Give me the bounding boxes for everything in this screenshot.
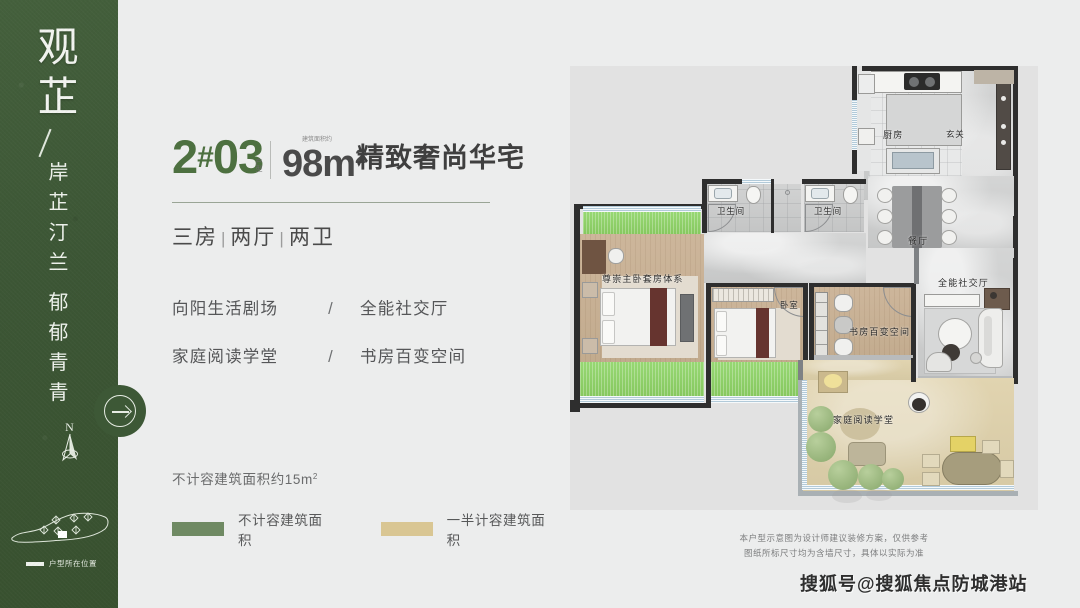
bookshelf-line-3 — [816, 330, 827, 331]
unit-hash: # — [197, 141, 213, 174]
entry-label: 玄关 — [946, 128, 965, 140]
terrace-tree-5 — [882, 468, 904, 490]
nightstand-right — [582, 338, 598, 354]
feature-row: 家庭阅读学堂 / 书房百变空间 — [172, 343, 532, 367]
bath2-label: 卫生间 — [814, 205, 842, 217]
master-window-south — [580, 396, 704, 403]
terrace-tree-2 — [806, 432, 836, 462]
vanity-desk — [582, 240, 606, 274]
room-count-bedrooms: 三房 — [172, 226, 218, 249]
next-arrow-icon[interactable] — [104, 395, 136, 427]
headline-tagline: 精致奢尚华宅 — [357, 140, 525, 176]
tree-shadow-2 — [866, 489, 892, 501]
dining-chair-2 — [877, 209, 893, 224]
feature-left-2: 家庭阅读学堂 — [172, 343, 302, 367]
dining-chair-4 — [941, 188, 957, 203]
brand-title-char-2: 芷 — [0, 72, 118, 122]
plan-disclaimer: 本户型示意图为设计师建议装修方案，仅供参考 图纸所标尺寸均为含墙尺寸，具体以实际… — [704, 531, 964, 561]
dining-chair-1 — [877, 188, 893, 203]
master-wall-bottom — [574, 403, 710, 408]
feature-right-1: 全能社交厅 — [360, 295, 449, 319]
social-wall-right — [1013, 258, 1018, 384]
bath1-basin — [714, 188, 732, 199]
brand-subtitle-char-5: 郁 — [0, 288, 118, 318]
dining-label: 餐厅 — [908, 234, 928, 247]
reading-room-label: 家庭阅读学堂 — [833, 413, 894, 426]
console-table — [924, 294, 980, 307]
bookshelf-line-4 — [816, 344, 827, 345]
burner-1 — [909, 77, 919, 87]
bookshelf-line-2 — [816, 316, 827, 317]
site-map-legend: 户型所在位置 — [26, 558, 118, 569]
watermark: 搜狐号@搜狐焦点防城港站 — [800, 570, 1080, 596]
room-count-bathrooms: 两卫 — [289, 226, 335, 249]
site-map-legend-swatch — [26, 562, 44, 566]
study-armchair-3 — [834, 338, 853, 356]
site-map-legend-label: 户型所在位置 — [49, 558, 97, 569]
nightstand-left — [582, 282, 598, 298]
area-number: 98m — [282, 143, 355, 185]
bedroom2-window — [711, 396, 803, 403]
headline-rule — [172, 202, 490, 203]
feature-left-1: 向阳生活剧场 — [172, 295, 302, 319]
brand-subtitle-char-6: 郁 — [0, 318, 118, 348]
terrace-tree-3 — [828, 460, 858, 490]
accent-chair — [926, 352, 952, 372]
study-wall-right — [911, 283, 916, 363]
bedroom2-label: 卧室 — [780, 299, 799, 311]
planter-plant — [824, 374, 842, 388]
unit-type-label: 户型 — [254, 158, 262, 172]
brand-title: 观 芷 — [0, 22, 118, 122]
bedroom2-throw — [756, 308, 769, 358]
outer-wall-left-lower — [570, 400, 576, 412]
outer-wall-mid-right — [911, 358, 916, 382]
lounge-chair — [848, 442, 886, 466]
vanity-stool — [608, 248, 624, 264]
cabinet-knob-2 — [1001, 124, 1006, 129]
outdoor-dining-table — [942, 452, 1002, 485]
area-value: 98m2 — [282, 136, 365, 186]
washer — [858, 128, 875, 145]
bed-bench — [680, 294, 694, 342]
feature-sep-2: / — [302, 348, 360, 367]
compass-needle-icon — [58, 433, 82, 463]
terrace-tree-1 — [808, 406, 834, 432]
bookshelf-line-1 — [816, 302, 827, 303]
brand-subtitle-char-7: 青 — [0, 348, 118, 378]
legend-swatch-green — [172, 522, 224, 536]
master-balcony-north — [583, 212, 701, 234]
outdoor-chair-4 — [1000, 460, 1014, 478]
dining-chair-3 — [877, 230, 893, 245]
area-footnote-sup: 2 — [313, 472, 318, 481]
area-legend: 不计容建筑面积 一半计容建筑面积 — [172, 509, 552, 549]
brand-subtitle-char-4: 兰 — [0, 248, 118, 278]
sofa-cushion — [984, 316, 992, 356]
bed-throw — [650, 288, 667, 346]
pillow-1 — [602, 292, 615, 316]
entry-mat — [974, 70, 1014, 84]
feature-right-2: 书房百变空间 — [360, 343, 466, 367]
social-hall-label: 全能社交厅 — [938, 276, 989, 289]
bedroom2-pillow-2 — [716, 335, 727, 356]
utility-window — [852, 100, 857, 150]
headline-divider — [270, 141, 271, 179]
brand-subtitle-gap — [0, 278, 118, 288]
site-map-icon — [10, 498, 112, 548]
bath1-label: 卫生间 — [717, 205, 745, 217]
kitchen-label: 厨房 — [883, 128, 903, 141]
room-count-summary: 三房|两厅|两卫 — [172, 221, 335, 251]
brand-subtitle-char-1: 岸 — [0, 158, 118, 188]
tv-cabinet — [984, 288, 1010, 310]
outdoor-seat — [912, 398, 926, 411]
room-count-livingrooms: 两厅 — [230, 226, 276, 249]
utility-shelf — [858, 74, 875, 94]
bedroom2-wardrobe — [712, 288, 774, 302]
brand-subtitle-char-3: 汀 — [0, 218, 118, 248]
outer-wall-terrace-top — [798, 360, 803, 380]
kitchen-sink — [892, 152, 934, 169]
room-sep-2: | — [276, 229, 288, 248]
floor-lamp — [970, 352, 982, 364]
plan-disclaimer-line-1: 本户型示意图为设计师建议装修方案，仅供参考 — [704, 531, 964, 546]
study-label: 书房百变空间 — [849, 325, 910, 338]
legend-label-green: 不计容建筑面积 — [238, 509, 330, 549]
dining-chair-5 — [941, 209, 957, 224]
compass: N — [52, 420, 88, 464]
floor-plan: 玄关 厨房 餐厅 卫生间 卫生间 — [556, 0, 1080, 608]
terrace-tree-4 — [858, 464, 884, 490]
feature-row: 向阳生活剧场 / 全能社交厅 — [172, 295, 532, 319]
unit-code: 2#03 — [172, 133, 263, 182]
outdoor-chair-1 — [922, 454, 940, 468]
site-map-sketch — [10, 498, 112, 548]
legend-label-tan: 一半计容建筑面积 — [447, 509, 552, 549]
tree-shadow-1 — [832, 489, 862, 503]
shower1-drain — [785, 190, 790, 195]
corridor-floor — [704, 233, 866, 283]
bath2-basin — [811, 188, 829, 199]
headline: 2#03 户型 建筑面积约 98m2 精致奢尚华宅 — [172, 133, 552, 193]
legend-swatch-tan — [381, 522, 433, 536]
master-bedroom-label: 尊崇主卧套房体系 — [602, 272, 684, 285]
brand-subtitle: 岸 芷 汀 兰 郁 郁 青 青 — [0, 158, 118, 408]
bath1-toilet — [746, 186, 761, 204]
decor-vase — [990, 292, 997, 299]
pillow-2 — [602, 320, 615, 344]
yellow-ottoman — [950, 436, 976, 452]
feature-sep-1: / — [302, 300, 360, 319]
area-footnote: 不计容建筑面积约15m2 — [172, 468, 318, 488]
brand-subtitle-char-2: 芷 — [0, 188, 118, 218]
brand-slash-divider — [38, 129, 51, 158]
area-footnote-text: 不计容建筑面积约15m — [172, 472, 313, 487]
unit-building: 2 — [172, 130, 197, 183]
terrace-rail-left — [802, 380, 807, 488]
feature-list: 向阳生活剧场 / 全能社交厅 家庭阅读学堂 / 书房百变空间 — [172, 295, 532, 391]
brand-title-char-1: 观 — [0, 22, 118, 72]
outdoor-chair-3 — [982, 440, 1000, 454]
outdoor-chair-2 — [922, 472, 940, 486]
dining-chair-6 — [941, 230, 957, 245]
shower1-wall — [771, 179, 774, 233]
room-sep-1: | — [218, 229, 230, 248]
cabinet-knob-1 — [1001, 96, 1006, 101]
bath2-toilet — [843, 186, 858, 204]
unit-number: 03 — [213, 130, 263, 183]
brand-sidebar: 观 芷 岸 芷 汀 兰 郁 郁 青 青 N — [0, 0, 118, 608]
plan-disclaimer-line-2: 图纸所标尺寸均为含墙尺寸，具体以实际为准 — [704, 546, 964, 561]
social-partition — [914, 248, 919, 284]
unit-info-panel: 2#03 户型 建筑面积约 98m2 精致奢尚华宅 三房|两厅|两卫 向阳生活剧… — [172, 0, 552, 608]
study-armchair-1 — [834, 294, 853, 312]
cabinet-knob-3 — [1001, 140, 1006, 145]
terrace-edge-bottom — [798, 491, 1018, 496]
burner-2 — [925, 77, 935, 87]
bedroom2-balcony — [711, 362, 803, 396]
master-balcony-south — [580, 362, 704, 396]
bedroom2-pillow-1 — [716, 311, 727, 332]
bath1-window — [742, 179, 772, 184]
